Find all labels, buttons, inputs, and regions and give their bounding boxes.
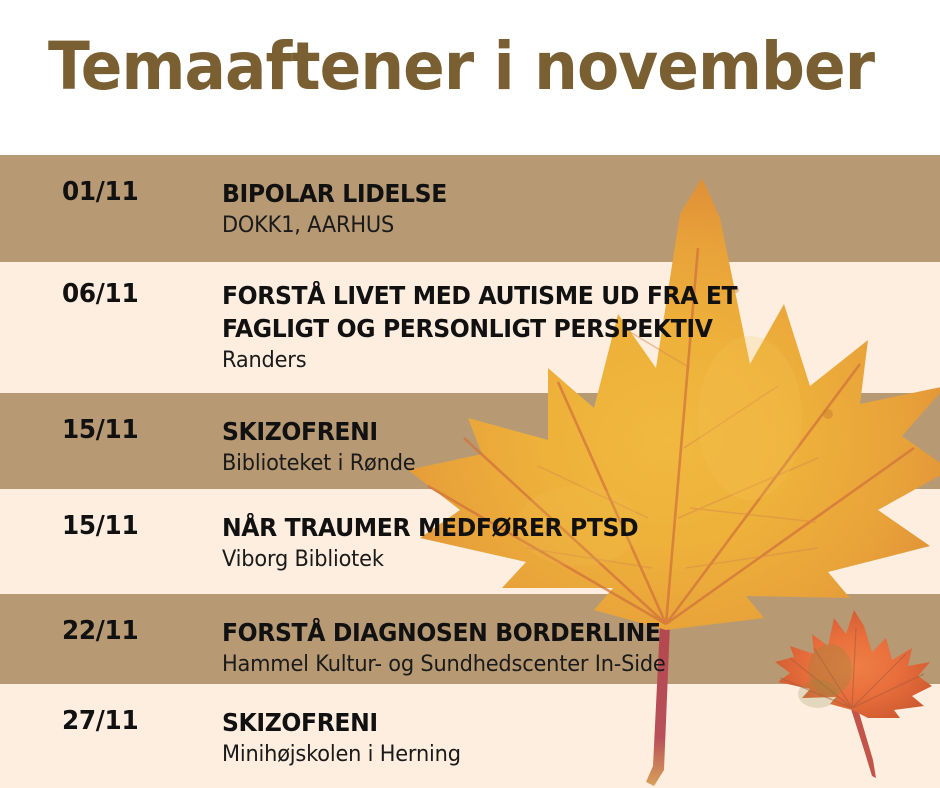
schedule-bands <box>0 155 940 788</box>
page-title: Temaaftener i november <box>48 28 874 106</box>
schedule-row-band <box>0 262 940 393</box>
poster-canvas: 01/11BIPOLAR LIDELSEDOKK1, AARHUS06/11FO… <box>0 0 940 788</box>
schedule-row-band <box>0 393 940 489</box>
poster-header: Temaaftener i november <box>0 0 940 155</box>
schedule-row-band <box>0 594 940 684</box>
schedule-row-band <box>0 489 940 594</box>
schedule-row-band <box>0 155 940 262</box>
schedule-row-band <box>0 684 940 788</box>
